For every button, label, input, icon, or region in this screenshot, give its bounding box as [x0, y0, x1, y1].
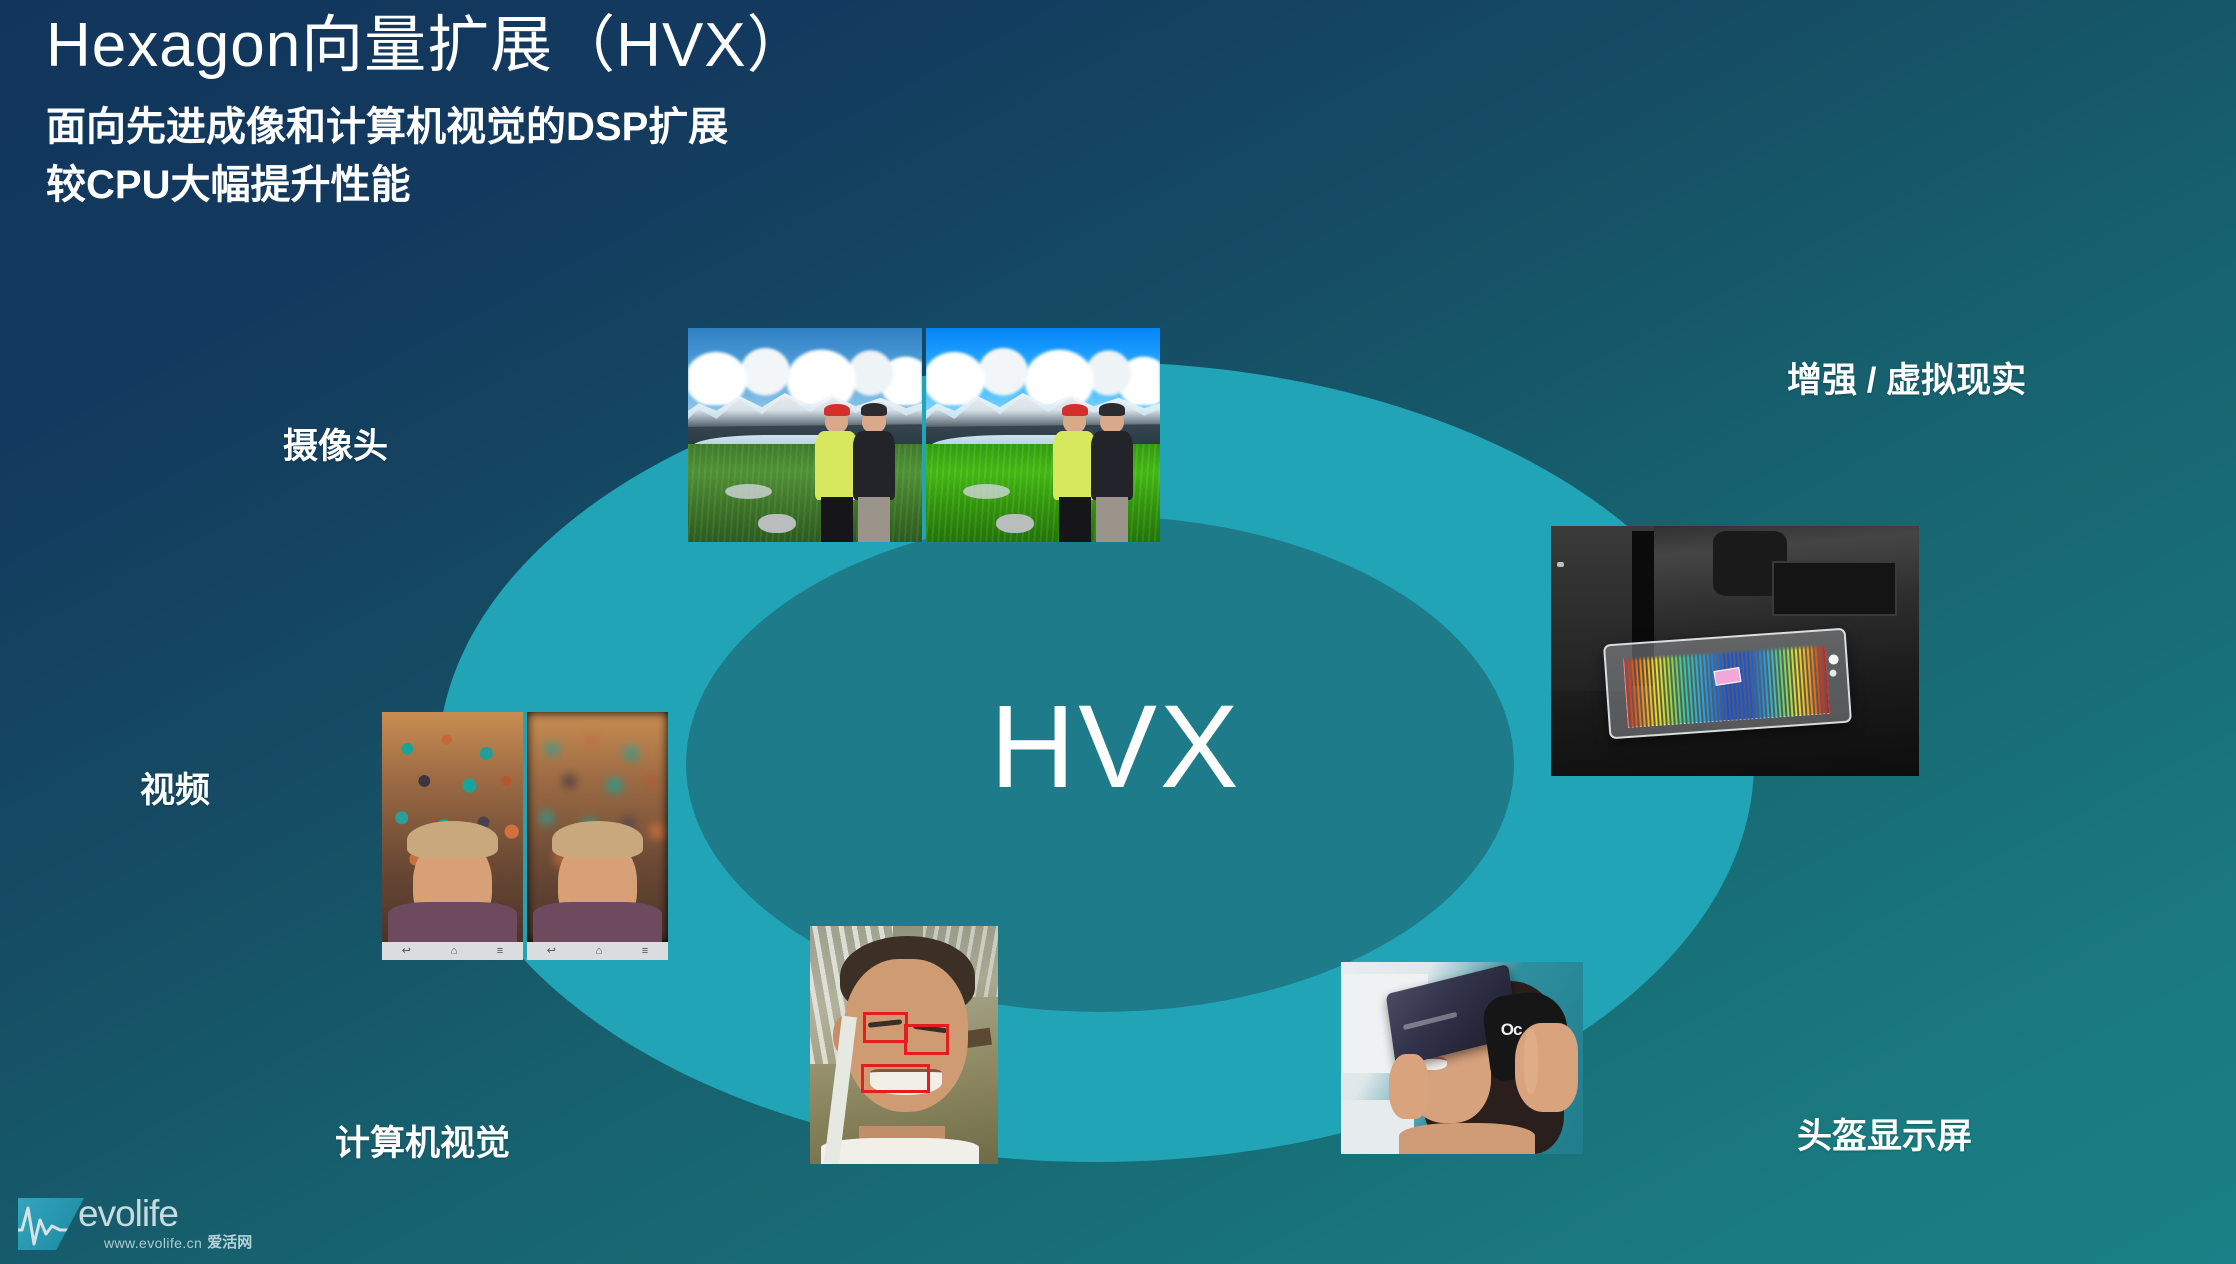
person-head	[1063, 409, 1086, 433]
hdr-original-half	[688, 328, 922, 542]
phone-navbar: ↩ ⌂ ≡	[527, 942, 668, 960]
person-man	[852, 409, 896, 542]
person-head	[862, 409, 885, 433]
tablet-camera	[1828, 654, 1839, 665]
photo-face-detection	[810, 926, 998, 1164]
label-video: 视频	[140, 762, 210, 813]
tablet-sensor	[1830, 669, 1837, 676]
person-legs	[1059, 497, 1091, 542]
detection-box-eye-right	[904, 1024, 949, 1055]
watermark-cn-name: 爱活网	[207, 1235, 252, 1250]
subtitle-line-2: 较CPU大幅提升性能	[46, 156, 810, 214]
woman-shoulder	[1399, 1123, 1535, 1154]
vr-brand-label: Oc	[1501, 1020, 1522, 1040]
label-head-mounted-display: 头盔显示屏	[1797, 1108, 1972, 1159]
woman-hand-left	[1389, 1054, 1428, 1119]
presentation-slide: Hexagon向量扩展（HVX） 面向先进成像和计算机视觉的DSP扩展 较CPU…	[0, 0, 2236, 1264]
watermark-text: evolife www.evolife.cn 爱活网	[90, 1195, 252, 1250]
hdr-enhanced-half	[926, 328, 1160, 542]
person-head	[1100, 409, 1123, 433]
home-icon[interactable]: ⌂	[451, 946, 458, 957]
home-icon[interactable]: ⌂	[596, 946, 603, 957]
label-ar-vr: 增强 / 虚拟现实	[1787, 352, 2026, 403]
phone-bokeh: ↩ ⌂ ≡	[527, 712, 668, 960]
rock-near	[758, 514, 795, 533]
subtitle-line-1: 面向先进成像和计算机视觉的DSP扩展	[46, 98, 810, 156]
person-man	[1090, 409, 1134, 542]
tablet-device	[1603, 628, 1852, 740]
detection-box-mouth	[861, 1064, 931, 1093]
clouds-layer	[688, 341, 922, 405]
person-head	[825, 409, 848, 433]
detection-box-eye-left	[863, 1012, 908, 1043]
person-jacket	[853, 431, 896, 500]
back-icon[interactable]: ↩	[402, 946, 411, 957]
photo-hdr-comparison	[688, 328, 1160, 542]
page-title: Hexagon向量扩展（HVX）	[46, 8, 810, 84]
watermark-subline: www.evolife.cn 爱活网	[104, 1235, 252, 1250]
photo-vr-headset: Oc	[1341, 962, 1583, 1154]
selfie-shirt	[388, 902, 518, 942]
door-handle	[1557, 562, 1564, 567]
center-label-hvx: HVX	[990, 688, 1242, 806]
television	[1772, 561, 1897, 616]
photo-ar-depth-tablet	[1551, 526, 1919, 776]
watermark-url: www.evolife.cn	[104, 1236, 202, 1250]
phone-sharp: ↩ ⌂ ≡	[382, 712, 523, 960]
rock-near	[996, 514, 1033, 533]
label-camera: 摄像头	[283, 418, 388, 469]
back-icon[interactable]: ↩	[547, 946, 556, 957]
label-computer-vision: 计算机视觉	[335, 1115, 510, 1166]
title-block: Hexagon向量扩展（HVX） 面向先进成像和计算机视觉的DSP扩展 较CPU…	[46, 8, 810, 214]
woman-hand-right	[1515, 1023, 1578, 1111]
watermark-name: evolife	[78, 1195, 252, 1232]
menu-icon[interactable]: ≡	[497, 946, 503, 957]
person-jacket	[1091, 431, 1134, 500]
boy-shirt	[821, 1138, 979, 1164]
person-legs	[821, 497, 853, 542]
selfie-shirt	[533, 902, 663, 942]
person-legs	[858, 497, 890, 542]
photo-video-comparison: ↩ ⌂ ≡ ↩ ⌂ ≡	[382, 712, 668, 960]
phone-navbar: ↩ ⌂ ≡	[382, 942, 523, 960]
menu-icon[interactable]: ≡	[642, 946, 648, 957]
evolife-logo-mark	[18, 1198, 84, 1250]
clouds-layer	[926, 341, 1160, 405]
watermark: evolife www.evolife.cn 爱活网	[18, 1195, 252, 1250]
person-legs	[1096, 497, 1128, 542]
